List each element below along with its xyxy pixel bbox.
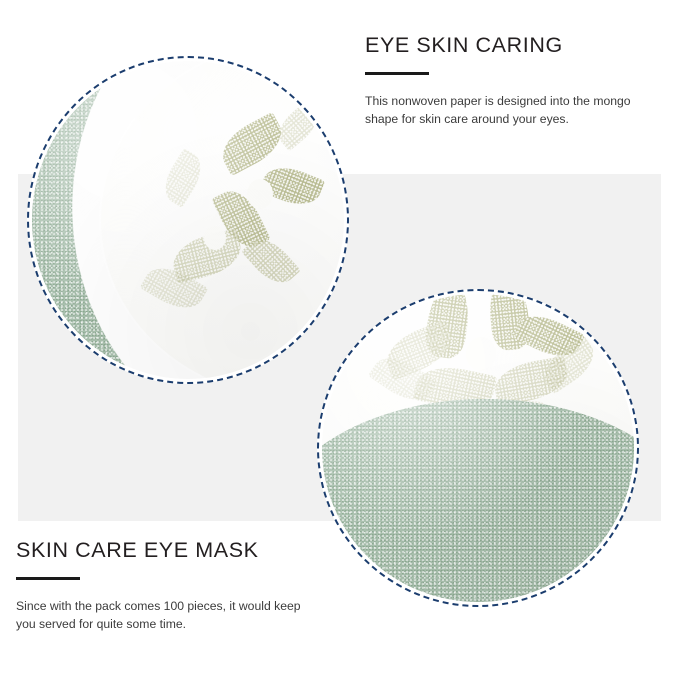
petal-center-highlight: [247, 179, 273, 209]
sage-fabric-band: [322, 399, 634, 602]
petal-center-highlight: [466, 337, 496, 371]
headline-eye-skin-caring: EYE SKIN CARING: [365, 33, 647, 58]
headline-divider: [16, 577, 80, 580]
body-copy-skin-care-eye-mask: Since with the pack comes 100 pieces, it…: [16, 597, 306, 634]
copy-block-skin-care-eye-mask: SKIN CARE EYE MASK Since with the pack c…: [16, 538, 306, 634]
copy-block-eye-skin-caring: EYE SKIN CARING This nonwoven paper is d…: [365, 33, 647, 129]
headline-divider: [365, 72, 429, 75]
headline-skin-care-eye-mask: SKIN CARE EYE MASK: [16, 538, 306, 563]
mask-closeup-upper: [27, 56, 349, 384]
closeup-upper-content: [32, 61, 344, 379]
closeup-lower-content: [322, 294, 634, 602]
petal-center-highlight: [204, 226, 226, 250]
body-copy-eye-skin-caring: This nonwoven paper is designed into the…: [365, 92, 647, 129]
mask-closeup-lower: [317, 289, 639, 607]
product-marketing-image: EYE SKIN CARING This nonwoven paper is d…: [0, 0, 679, 679]
